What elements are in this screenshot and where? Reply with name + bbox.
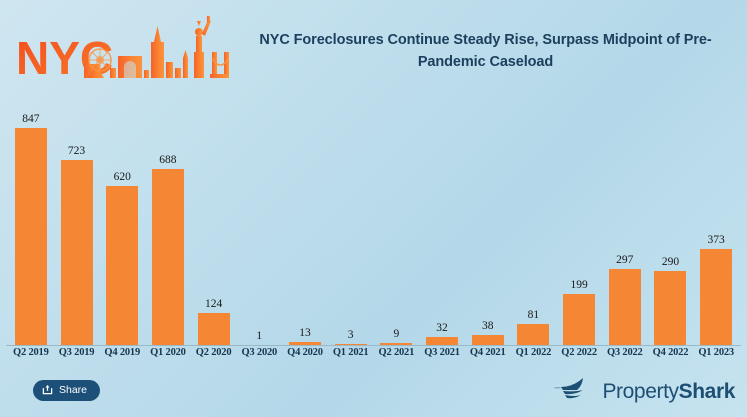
bar-value-label: 1 (256, 331, 262, 343)
share-button-label: Share (59, 385, 87, 396)
bar-value-label: 723 (68, 146, 85, 158)
bar-group[interactable]: 373 (693, 108, 739, 345)
propertyshark-logo[interactable]: PropertyShark (553, 376, 735, 406)
share-button[interactable]: Share (33, 380, 100, 401)
bar-group[interactable]: 3 (328, 108, 374, 345)
bar[interactable] (106, 186, 138, 345)
bar-group[interactable]: 32 (419, 108, 465, 345)
bar-group[interactable]: 1 (236, 108, 282, 345)
bar-group[interactable]: 688 (145, 108, 191, 345)
bar-group[interactable]: 723 (54, 108, 100, 345)
brand-suffix: Shark (679, 380, 735, 403)
x-axis-label: Q1 2023 (693, 347, 739, 358)
bar-value-label: 199 (570, 280, 587, 292)
x-axis-label: Q1 2021 (328, 347, 374, 358)
bar-group[interactable]: 124 (191, 108, 237, 345)
bar[interactable] (472, 335, 504, 345)
bar-chart: 84772362068812411339323881199297290373 Q… (0, 108, 747, 368)
bar-value-label: 373 (708, 235, 725, 247)
page-header: NYC (0, 0, 747, 108)
nyc-skyline-logo: NYC (14, 12, 229, 94)
x-axis-tick-labels: Q2 2019Q3 2019Q4 2019Q1 2020Q2 2020Q3 20… (8, 347, 739, 358)
x-axis-label: Q4 2022 (648, 347, 694, 358)
bar[interactable] (152, 169, 184, 345)
bar[interactable] (563, 294, 595, 345)
bar-group[interactable]: 38 (465, 108, 511, 345)
x-axis-label: Q4 2021 (465, 347, 511, 358)
x-axis-line (6, 345, 741, 346)
bar[interactable] (15, 128, 47, 345)
x-axis-label: Q4 2019 (99, 347, 145, 358)
bar-value-label: 3 (348, 330, 354, 342)
x-axis-label: Q3 2021 (419, 347, 465, 358)
bar[interactable] (654, 271, 686, 345)
bar-group[interactable]: 620 (99, 108, 145, 345)
bar[interactable] (198, 313, 230, 345)
x-axis-label: Q3 2022 (602, 347, 648, 358)
bar[interactable] (609, 269, 641, 345)
brand-prefix: Property (602, 380, 678, 403)
bar-value-label: 620 (114, 172, 131, 184)
shark-fin-icon (553, 376, 595, 407)
bar-group[interactable]: 81 (511, 108, 557, 345)
bar-value-label: 688 (159, 155, 176, 167)
bar-value-label: 290 (662, 257, 679, 269)
bar-value-label: 297 (616, 255, 633, 267)
bar-value-label: 38 (482, 321, 494, 333)
bar-group[interactable]: 847 (8, 108, 54, 345)
bar[interactable] (700, 249, 732, 345)
x-axis-label: Q2 2019 (8, 347, 54, 358)
bar-value-label: 13 (299, 328, 311, 340)
bar-group[interactable]: 290 (648, 108, 694, 345)
x-axis-label: Q2 2022 (556, 347, 602, 358)
bar[interactable] (61, 160, 93, 345)
bar-value-label: 32 (436, 323, 448, 335)
bar[interactable] (517, 324, 549, 345)
bar[interactable] (426, 337, 458, 345)
bar-value-label: 124 (205, 299, 222, 311)
x-axis-label: Q2 2021 (374, 347, 420, 358)
page-footer: Share PropertyShark (0, 368, 747, 417)
x-axis-label: Q3 2019 (54, 347, 100, 358)
x-axis-label: Q1 2022 (511, 347, 557, 358)
chart-page: NYC (0, 0, 747, 417)
bar-group[interactable]: 199 (556, 108, 602, 345)
bar-group[interactable]: 297 (602, 108, 648, 345)
x-axis-label: Q3 2020 (236, 347, 282, 358)
x-axis-label: Q2 2020 (191, 347, 237, 358)
bar-value-label: 81 (528, 310, 540, 322)
bar-value-label: 847 (22, 114, 39, 126)
x-axis-label: Q4 2020 (282, 347, 328, 358)
page-title: NYC Foreclosures Continue Steady Rise, S… (238, 30, 733, 74)
bar-group[interactable]: 9 (374, 108, 420, 345)
bar-value-label: 9 (393, 329, 399, 341)
chart-plot-area: 84772362068812411339323881199297290373 (8, 108, 739, 345)
share-icon (42, 382, 53, 400)
propertyshark-wordmark: PropertyShark (602, 381, 735, 402)
x-axis-label: Q1 2020 (145, 347, 191, 358)
bar-group[interactable]: 13 (282, 108, 328, 345)
